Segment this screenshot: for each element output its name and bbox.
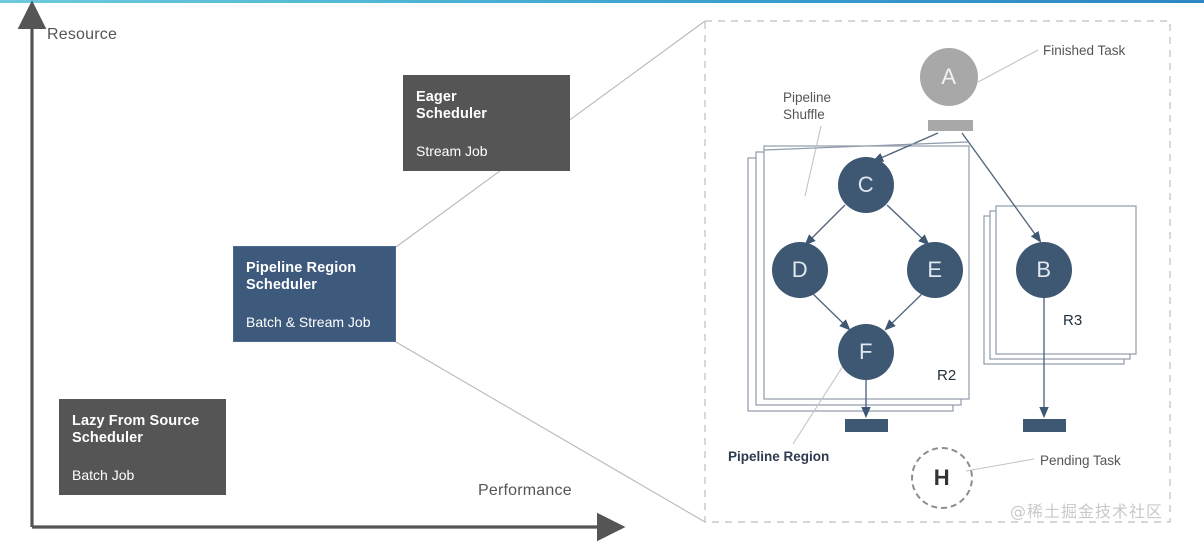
eager-scheduler-subtitle: Stream Job xyxy=(416,143,570,160)
region-label-r2: R2 xyxy=(937,367,956,384)
task-node-a[interactable]: A xyxy=(920,48,978,106)
task-node-h[interactable]: H xyxy=(911,447,973,509)
watermark: @稀土掘金技术社区 xyxy=(1010,498,1163,522)
task-node-f[interactable]: F xyxy=(838,324,894,380)
pipeline-region-scheduler-box[interactable]: Pipeline Region Scheduler Batch & Stream… xyxy=(233,246,396,342)
region-label-r3: R3 xyxy=(1063,312,1082,329)
pipeline-region-label: Pipeline Region xyxy=(728,448,829,465)
diagram-canvas: Resource Performance Eager Scheduler Str… xyxy=(0,0,1204,544)
pending-task-label: Pending Task xyxy=(1040,452,1121,469)
eager-scheduler-title: Eager Scheduler xyxy=(416,89,570,123)
pipeline-region-scheduler-subtitle: Batch & Stream Job xyxy=(246,314,395,331)
top-accent-bar xyxy=(0,0,1204,3)
pipeline-region-scheduler-title: Pipeline Region Scheduler xyxy=(246,260,395,294)
result-partition-bar-f xyxy=(845,419,888,432)
finished-task-label: Finished Task xyxy=(1043,42,1125,59)
y-axis-label: Resource xyxy=(47,26,117,44)
result-partition-bar-a xyxy=(928,120,973,131)
task-node-b[interactable]: B xyxy=(1016,242,1072,298)
x-axis-label: Performance xyxy=(478,482,572,500)
lazy-from-source-scheduler-box[interactable]: Lazy From Source Scheduler Batch Job xyxy=(59,399,226,495)
eager-scheduler-box[interactable]: Eager Scheduler Stream Job xyxy=(403,75,570,171)
task-node-d[interactable]: D xyxy=(772,242,828,298)
task-node-c[interactable]: C xyxy=(838,157,894,213)
result-partition-bar-b xyxy=(1023,419,1066,432)
pipeline-shuffle-label: Pipeline Shuffle xyxy=(783,89,831,123)
lazy-from-source-scheduler-title: Lazy From Source Scheduler xyxy=(72,413,226,447)
task-node-e[interactable]: E xyxy=(907,242,963,298)
lazy-from-source-scheduler-subtitle: Batch Job xyxy=(72,467,226,484)
